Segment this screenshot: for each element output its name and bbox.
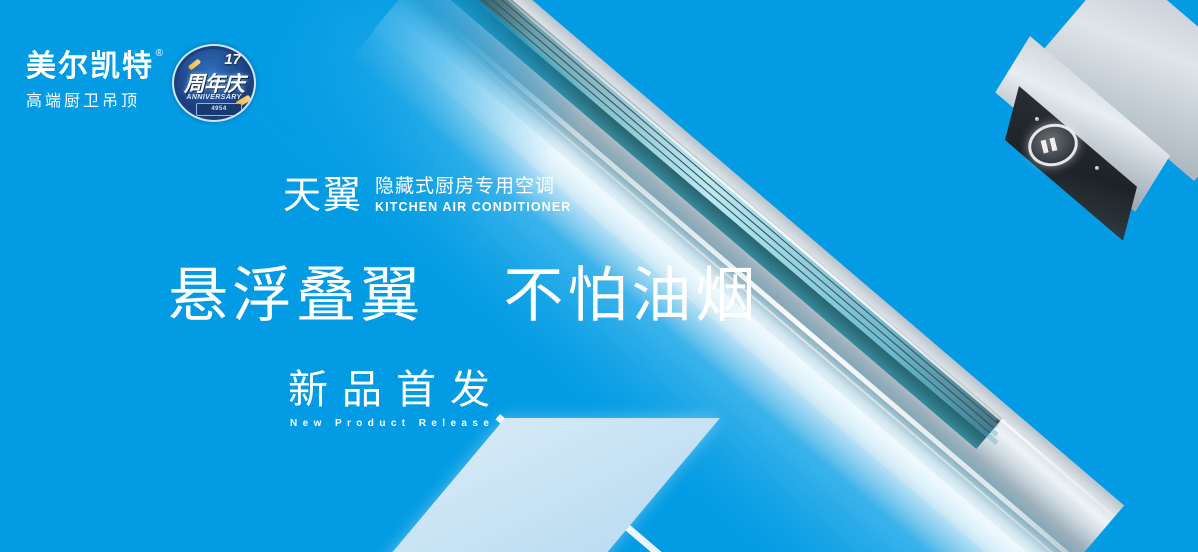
product-name-cn: 天翼 — [283, 177, 363, 215]
brand-name-text: 美尔凯特 — [26, 50, 154, 83]
brand-name: 美尔凯特 ® — [26, 51, 154, 83]
product-name-block: 天翼 隐藏式厨房专用空调 KITCHEN AIR CONDITIONER — [283, 176, 571, 215]
product-endcap-edge — [495, 414, 667, 552]
promo-banner: 美尔凯特 ® 高端厨卫吊顶 17 周年庆 ANNIVERSARY 4954 天翼… — [0, 0, 1198, 552]
product-descriptor-cn: 隐藏式厨房专用空调 — [375, 176, 571, 198]
anniversary-badge-disc: 17 周年庆 ANNIVERSARY 4954 — [172, 44, 256, 122]
release-title-en: New Product Release — [290, 418, 504, 429]
release-block: 新品首发 New Product Release — [288, 370, 504, 429]
registered-trademark-icon: ® — [156, 49, 165, 60]
product-module-housing — [1005, 86, 1137, 241]
anniversary-ribbon: 4954 — [196, 103, 242, 116]
product-corner-panel — [1042, 0, 1198, 181]
headline-part-one: 悬浮叠翼 — [168, 262, 424, 329]
brand-text-group: 美尔凯特 ® 高端厨卫吊顶 — [26, 51, 154, 111]
headline-part-two: 不怕油烟 — [503, 262, 759, 329]
headline: 悬浮叠翼 不怕油烟 — [168, 266, 759, 326]
screw-icon — [1095, 166, 1099, 170]
anniversary-label-en: ANNIVERSARY — [174, 94, 254, 101]
anniversary-years: 17 — [224, 51, 241, 68]
anniversary-badge: 17 周年庆 ANNIVERSARY 4954 — [168, 42, 260, 120]
louver-blade — [471, 0, 999, 445]
product-descriptor-group: 隐藏式厨房专用空调 KITCHEN AIR CONDITIONER — [375, 176, 571, 215]
product-endcap-panel — [379, 418, 720, 552]
highlight-rail — [428, 0, 1114, 517]
product-louver-cavity — [444, 0, 1002, 449]
screw-icon — [1035, 117, 1039, 121]
brand-tagline: 高端厨卫吊顶 — [26, 87, 154, 111]
product-emblem-icon — [1024, 119, 1083, 172]
product-module-cover — [995, 36, 1170, 212]
product-descriptor-en: KITCHEN AIR CONDITIONER — [375, 200, 571, 214]
brand-lockup: 美尔凯特 ® 高端厨卫吊顶 17 周年庆 ANNIVERSARY 4954 — [26, 42, 260, 120]
louver-blade — [471, 0, 999, 437]
release-title-cn: 新品首发 — [288, 370, 504, 410]
product-fade-tail — [201, 0, 601, 279]
